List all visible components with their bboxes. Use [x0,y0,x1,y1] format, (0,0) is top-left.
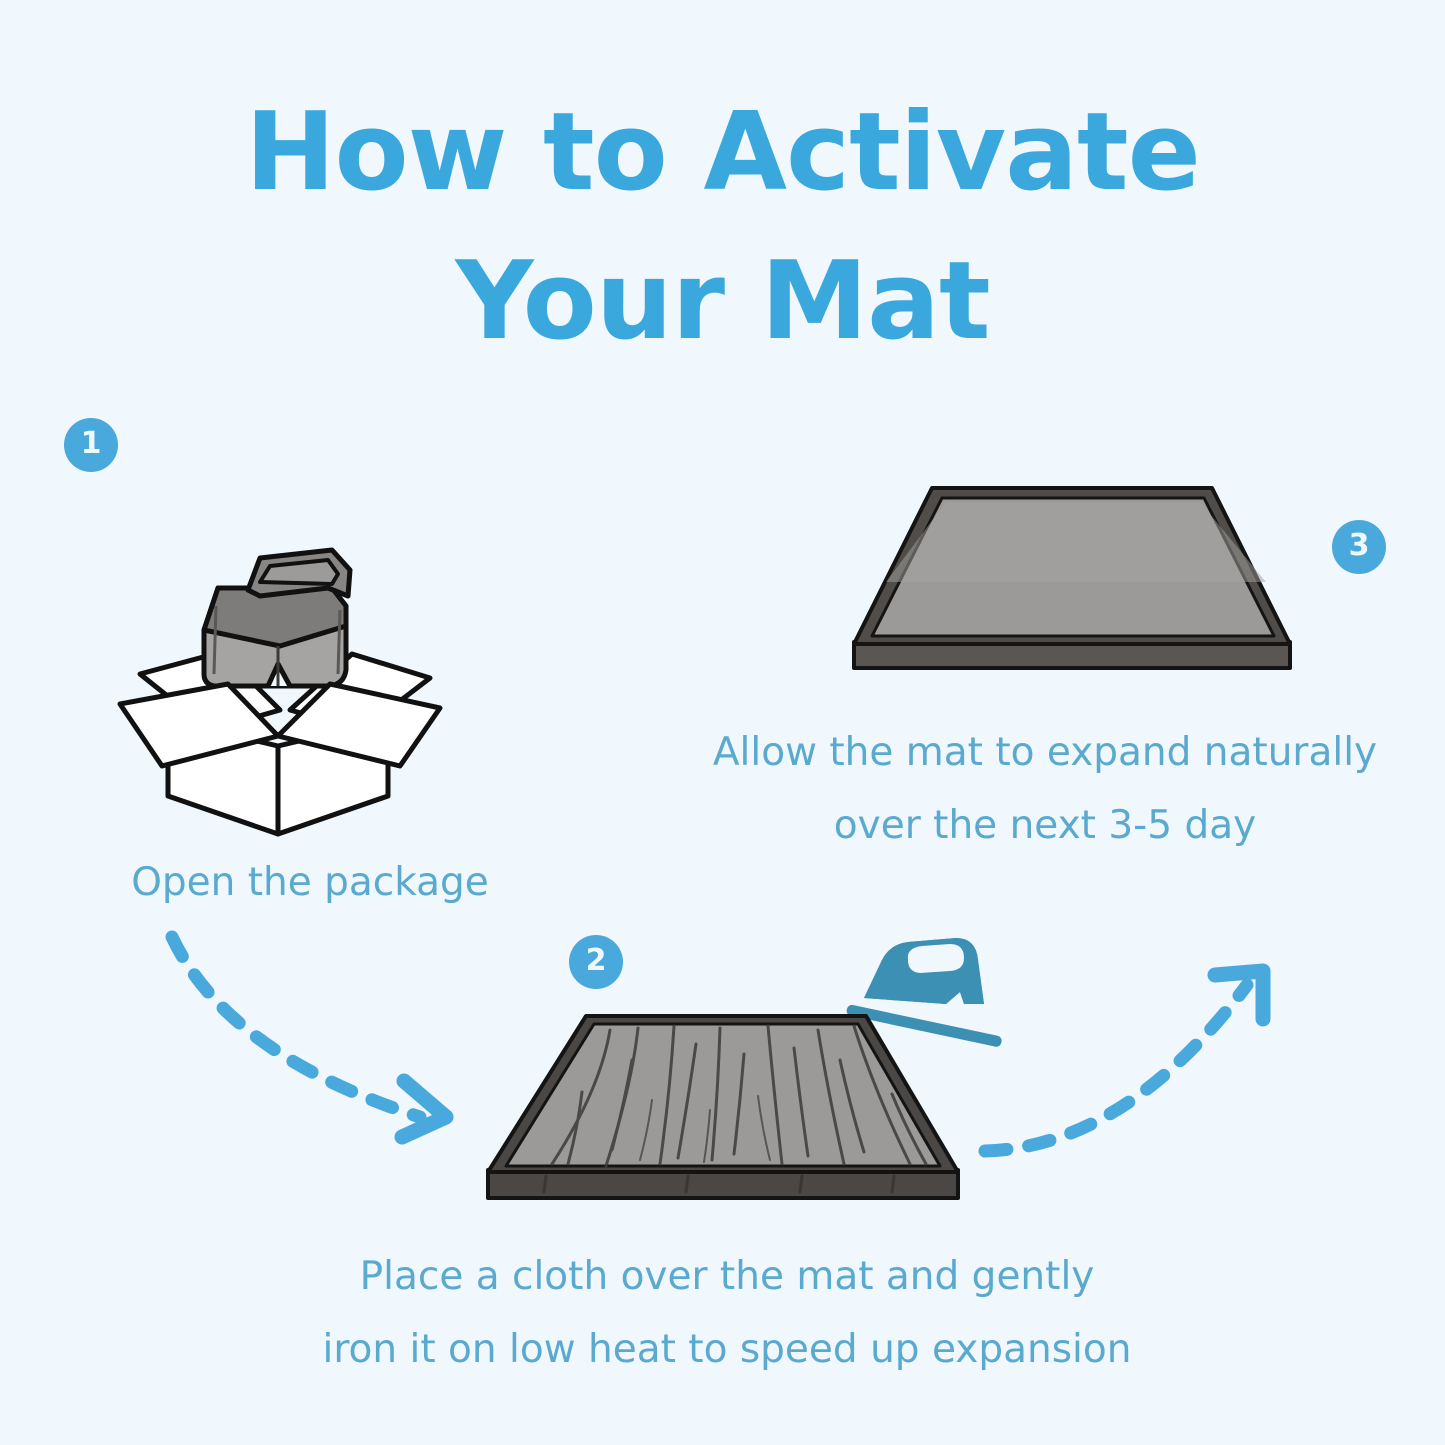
page-title: How to Activate Your Mat [0,78,1445,376]
open-cardboard-box-with-packed-mat-icon [100,478,456,834]
step-2-caption: Place a cloth over the mat and gently ir… [232,1240,1222,1387]
step-badge-3: 3 [1332,520,1386,574]
step-3-caption: Allow the mat to expand naturally over t… [660,716,1430,863]
step-3-caption-line-1: Allow the mat to expand naturally [660,716,1430,789]
step-2-caption-line-2: iron it on low heat to speed up expansio… [232,1313,1222,1386]
step-3-caption-line-2: over the next 3-5 day [660,789,1430,862]
infographic-canvas: How to Activate Your Mat 1 [0,0,1445,1445]
step-1-caption: Open the package [30,848,590,919]
step-badge-1: 1 [64,418,118,472]
flat-expanded-mat-icon [826,462,1326,692]
mat-covered-with-cloth-icon [482,1000,964,1222]
step-1-caption-line-1: Open the package [30,848,590,919]
step-2-caption-line-1: Place a cloth over the mat and gently [232,1240,1222,1313]
dashed-arrow-step1-to-step2-icon [158,925,498,1150]
step-badge-2: 2 [569,935,623,989]
page-title-line-2: Your Mat [0,227,1445,376]
page-title-line-1: How to Activate [0,78,1445,227]
dashed-arrow-step2-to-step3-icon [975,955,1285,1170]
